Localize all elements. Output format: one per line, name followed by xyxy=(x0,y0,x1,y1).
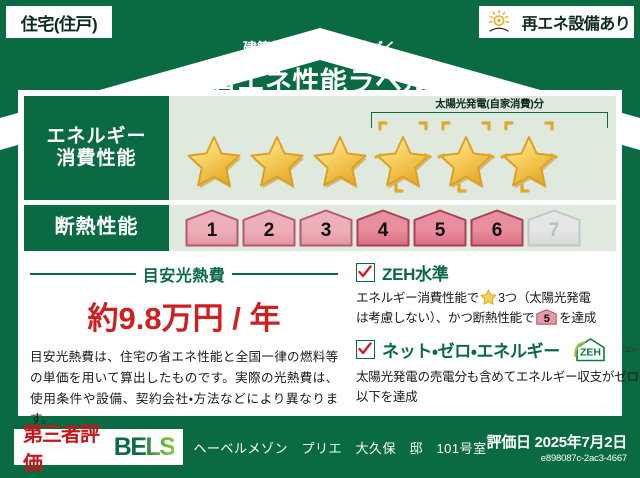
energy-label-card: 住宅(住戸) 再エネ設備あり 建築物省エネ法に基づく 省エネ性能ラベル xyxy=(0,0,640,478)
insulation-badge-7: 7 xyxy=(527,209,581,247)
third-party-eval-label: 第三者評価 xyxy=(23,418,108,476)
insulation-badge-number: 4 xyxy=(356,220,410,242)
inline-badge-number: 5 xyxy=(536,311,557,329)
bels-logo-box: 第三者評価 BELS xyxy=(14,429,183,465)
housing-type-badge: 住宅(住戸) xyxy=(6,6,112,38)
claim-net-zero-header: ネット・ゼロ・エネルギー ZEH 「ZEH」 xyxy=(356,336,640,364)
star-solar xyxy=(435,115,497,199)
utility-cost-section: 目安光熱費 約9.8万円 / 年 目安光熱費は、住宅の省エネ性能と全国一律の燃料… xyxy=(24,256,346,413)
claim-zeh-title: ZEH水準 xyxy=(382,260,449,285)
insulation-badge-number: 6 xyxy=(470,220,524,242)
checkbox-checked-icon xyxy=(356,263,375,282)
checkbox-checked-icon xyxy=(356,340,375,359)
insulation-label-text: 断熱性能 xyxy=(55,216,139,240)
insulation-badge-number: 2 xyxy=(242,220,296,242)
insulation-badge-number: 7 xyxy=(527,220,581,242)
claim-zeh-header: ZEH水準 xyxy=(356,260,640,285)
claim-zeh-body: エネルギー消費性能で3つ（太陽光発電は考慮しない）、かつ断熱性能で5を達成 xyxy=(356,288,640,329)
insulation-badge-1: 1 xyxy=(185,209,239,247)
energy-performance-row: エネルギー 消費性能 太陽光発電(自家消費)分 xyxy=(24,96,616,200)
svg-text:ZEH: ZEH xyxy=(580,346,601,358)
insulation-performance-body: 1 2 3 4 xyxy=(169,205,616,251)
evaluation-date-label: 評価日 xyxy=(487,434,531,451)
utility-cost-heading: 目安光熱費 xyxy=(30,262,338,286)
sun-icon xyxy=(487,9,517,35)
title-subtitle: 建築物省エネ法に基づく xyxy=(0,38,640,58)
insulation-grade-badges: 1 2 3 4 xyxy=(185,209,581,247)
star-base xyxy=(309,115,371,199)
claim-zeh-level: ZEH水準 エネルギー消費性能で3つ（太陽光発電は考慮しない）、かつ断熱性能で5… xyxy=(356,260,640,329)
insulation-badge-number: 3 xyxy=(299,220,353,242)
star-solar xyxy=(498,115,560,199)
zeh-trademark-label: 「ZEH」 xyxy=(619,345,640,354)
utility-cost-heading-text: 目安光熱費 xyxy=(143,262,226,286)
insulation-performance-row: 断熱性能 1 2 xyxy=(24,205,616,251)
rule-right xyxy=(232,273,338,275)
rule-left xyxy=(30,273,136,275)
evaluation-date-value: 2025年7月2日 xyxy=(535,434,627,451)
property-name: ヘーベルメゾン プリエ 大久保 邸 101号室 xyxy=(193,438,486,457)
evaluation-date: 評価日 2025年7月2日 xyxy=(487,431,627,452)
energy-label-line2: 消費性能 xyxy=(56,148,136,170)
claim-net-zero-body: 太陽光発電の売電分も含めてエネルギー収支がゼロ以下を達成 xyxy=(356,367,640,408)
star-base xyxy=(183,115,245,199)
inline-insulation-badge: 5 xyxy=(536,309,557,325)
energy-performance-label: エネルギー 消費性能 xyxy=(24,96,169,200)
insulation-badge-5: 5 xyxy=(413,209,467,247)
solar-bracket-label: 太陽光発電(自家消費)分 xyxy=(371,99,608,111)
energy-label-line1: エネルギー xyxy=(46,126,146,148)
insulation-badge-6: 6 xyxy=(470,209,524,247)
label-footer: 第三者評価 BELS ヘーベルメゾン プリエ 大久保 邸 101号室 評価日 2… xyxy=(0,416,640,478)
evaluation-id: e898087c-2ac3-4667 xyxy=(487,453,627,464)
star-solar xyxy=(372,115,434,199)
insulation-performance-label: 断熱性能 xyxy=(24,205,169,251)
lower-content: 目安光熱費 約9.8万円 / 年 目安光熱費は、住宅の省エネ性能と全国一律の燃料… xyxy=(24,256,616,413)
insulation-badge-4: 4 xyxy=(356,209,410,247)
certification-claims: ZEH水準 エネルギー消費性能で3つ（太陽光発電は考慮しない）、かつ断熱性能で5… xyxy=(356,256,640,413)
label-content-panel: エネルギー 消費性能 太陽光発電(自家消費)分 xyxy=(18,90,622,416)
bels-wordmark: BELS xyxy=(114,433,175,462)
claim-zeh-text-3: は考慮しない）、かつ断熱性能で xyxy=(356,311,534,325)
insulation-badge-number: 1 xyxy=(185,220,239,242)
renewable-equipment-badge: 再エネ設備あり xyxy=(479,6,634,38)
claim-net-zero-title: ネット・ゼロ・エネルギー xyxy=(382,337,560,362)
energy-performance-body: 太陽光発電(自家消費)分 xyxy=(169,96,616,200)
evaluation-info: 評価日 2025年7月2日 e898087c-2ac3-4667 xyxy=(487,431,627,464)
claim-net-zero-energy: ネット・ゼロ・エネルギー ZEH 「ZEH」 太陽光発電の売電分も含めてエネルギ… xyxy=(356,336,640,408)
star-base xyxy=(246,115,308,199)
energy-star-rating xyxy=(183,115,560,199)
housing-type-label: 住宅(住戸) xyxy=(21,10,97,35)
inline-star-icon xyxy=(480,289,497,305)
claim-zeh-text-2: 3つ（太陽光発電 xyxy=(498,291,591,305)
insulation-badge-3: 3 xyxy=(299,209,353,247)
utility-cost-value: 約9.8万円 / 年 xyxy=(30,293,338,338)
claim-zeh-text-4: を達成 xyxy=(559,311,596,325)
zeh-logo-icon: ZEH xyxy=(570,336,612,364)
insulation-badge-number: 5 xyxy=(413,220,467,242)
renewable-equipment-label: 再エネ設備あり xyxy=(522,10,631,34)
insulation-badge-2: 2 xyxy=(242,209,296,247)
claim-zeh-text-1: エネルギー消費性能で xyxy=(356,291,479,305)
